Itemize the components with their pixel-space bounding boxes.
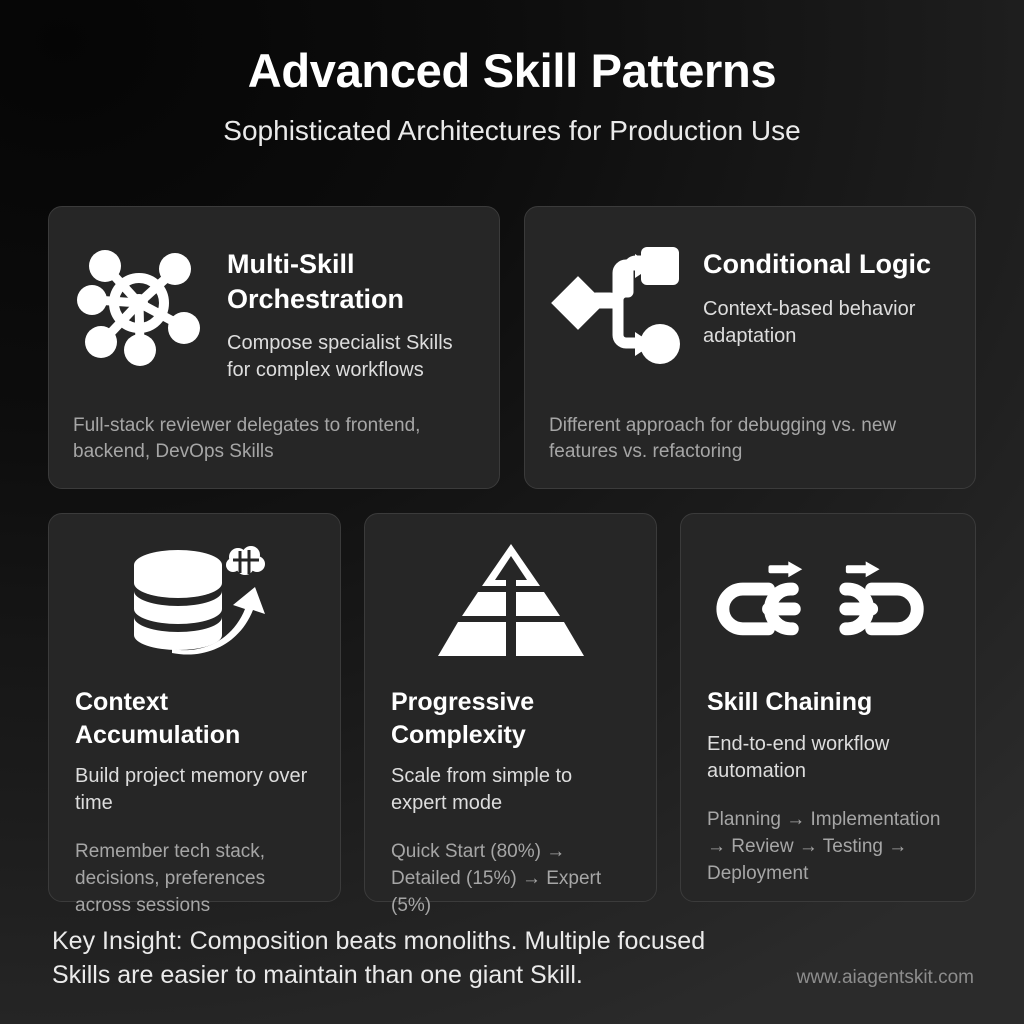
header: Advanced Skill Patterns Sophisticated Ar… xyxy=(0,0,1024,147)
card-title: Context Accumulation xyxy=(75,686,314,751)
card-description: End-to-end workflow automation xyxy=(707,731,949,785)
card-text: Conditional Logic Context-based behavior… xyxy=(703,229,951,350)
page-title: Advanced Skill Patterns xyxy=(0,46,1024,97)
card-description: Build project memory over time xyxy=(75,763,314,817)
card-example: Planning → Implementation → Review → Tes… xyxy=(707,807,949,888)
card-title: Progressive Complexity xyxy=(391,686,630,751)
card-multi-skill-orchestration[interactable]: Multi-Skill Orchestration Compose specia… xyxy=(48,206,500,489)
infographic-page: Advanced Skill Patterns Sophisticated Ar… xyxy=(0,0,1024,1024)
network-hub-icon xyxy=(73,229,205,377)
branching-flowchart-icon xyxy=(549,229,681,377)
card-description: Scale from simple to expert mode xyxy=(391,763,630,817)
footer: Key Insight: Composition beats monoliths… xyxy=(52,925,994,993)
database-brain-icon xyxy=(75,538,314,666)
card-description: Context-based behavior adaptation xyxy=(703,296,951,350)
card-conditional-logic[interactable]: Conditional Logic Context-based behavior… xyxy=(524,206,976,489)
pyramid-arrow-icon xyxy=(391,538,630,666)
card-skill-chaining[interactable]: Skill Chaining End-to-end workflow autom… xyxy=(680,513,976,902)
chain-links-icon xyxy=(707,538,949,666)
card-context-accumulation[interactable]: Context Accumulation Build project memor… xyxy=(48,513,341,902)
card-example: Full-stack reviewer delegates to fronten… xyxy=(73,413,477,466)
card-text: Multi-Skill Orchestration Compose specia… xyxy=(227,229,475,384)
cards-row-top: Multi-Skill Orchestration Compose specia… xyxy=(48,206,976,489)
card-example: Remember tech stack, decisions, preferen… xyxy=(75,839,314,920)
website-url: www.aiagentskit.com xyxy=(797,967,974,989)
card-title: Multi-Skill Orchestration xyxy=(227,247,475,316)
page-subtitle: Sophisticated Architectures for Producti… xyxy=(0,116,1024,147)
cards-row-bottom: Context Accumulation Build project memor… xyxy=(48,513,976,902)
key-insight-text: Key Insight: Composition beats monoliths… xyxy=(52,925,752,993)
card-example: Quick Start (80%) → Detailed (15%) → Exp… xyxy=(391,839,630,920)
card-title: Conditional Logic xyxy=(703,247,951,282)
card-description: Compose specialist Skills for complex wo… xyxy=(227,330,475,384)
card-header: Multi-Skill Orchestration Compose specia… xyxy=(73,229,475,384)
card-progressive-complexity[interactable]: Progressive Complexity Scale from simple… xyxy=(364,513,657,902)
card-header: Conditional Logic Context-based behavior… xyxy=(549,229,951,377)
card-title: Skill Chaining xyxy=(707,686,949,719)
card-example: Different approach for debugging vs. new… xyxy=(549,413,953,466)
